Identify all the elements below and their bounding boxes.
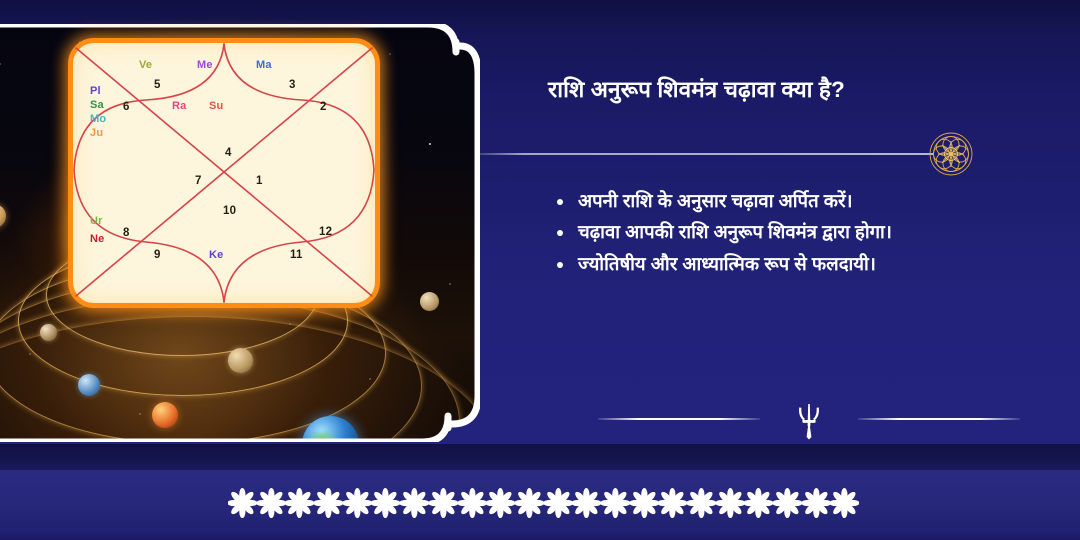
eight-petal-flower-icon <box>802 486 831 520</box>
kundali-house-number: 1 <box>256 176 263 188</box>
kundali-lines <box>68 38 380 308</box>
eight-petal-flower-icon <box>285 486 314 520</box>
eight-petal-flower-icon <box>515 486 544 520</box>
bullet-dot-icon <box>557 230 563 236</box>
kundali-house-number: 11 <box>290 250 303 262</box>
eight-petal-flower-icon <box>687 486 716 520</box>
kundali-house-number: 6 <box>123 102 130 114</box>
trishul-icon <box>786 396 832 442</box>
kundali-planet-mo: Mo <box>90 114 106 125</box>
kundali-planet-sa: Sa <box>90 100 104 111</box>
eight-petal-flower-icon <box>486 486 515 520</box>
eight-petal-flower-icon <box>544 486 573 520</box>
kundali-house-number: 9 <box>154 250 161 262</box>
bullet-text: अपनी राशि के अनुसार चढ़ावा अर्पित करें। <box>578 190 853 211</box>
neptune-planet <box>78 374 100 396</box>
kundali-planet-ke: Ke <box>209 250 223 261</box>
kundali-planet-ve: Ve <box>139 60 152 71</box>
eight-petal-flower-icon <box>744 486 773 520</box>
eight-petal-flower-icon <box>658 486 687 520</box>
kundali-house-number: 7 <box>195 176 202 188</box>
kundali-planet-ne: Ne <box>90 234 104 245</box>
kundali-planet-pl: Pl <box>90 86 101 97</box>
kundali-house-number: 4 <box>225 148 232 160</box>
page-title: राशि अनुरूप शिवमंत्र चढ़ावा क्या है? <box>548 76 1048 104</box>
bullet-item: चढ़ावा आपकी राशि अनुरूप शिवमंत्र द्वारा … <box>550 219 1060 245</box>
kundali-house-number: 5 <box>154 80 161 92</box>
bullet-item: अपनी राशि के अनुसार चढ़ावा अर्पित करें। <box>550 188 1060 214</box>
content-column: राशि अनुरूप शिवमंत्र चढ़ावा क्या है? <box>540 0 1080 540</box>
kundali-house-number: 8 <box>123 228 130 240</box>
bullet-item: ज्योतिषीय और आध्यात्मिक रूप से फलदायी। <box>550 251 1060 277</box>
mars-planet <box>152 402 178 428</box>
eight-petal-flower-icon <box>830 486 859 520</box>
eight-petal-flower-icon <box>601 486 630 520</box>
divider-line <box>478 153 934 155</box>
kundali-planet-ur: Ur <box>90 216 103 227</box>
bullet-dot-icon <box>557 262 563 268</box>
mercury-planet <box>40 324 57 341</box>
mandala-rosette-icon <box>928 131 974 177</box>
kundali-planet-me: Me <box>197 60 213 71</box>
uranus-planet <box>420 292 439 311</box>
kundali-house-number: 3 <box>289 80 296 92</box>
eight-petal-flower-icon <box>572 486 601 520</box>
kundali-chart: 123456789101112 VeMeMaPlSaMoJuRaSuUrNeKe <box>68 38 380 308</box>
eight-petal-flower-icon <box>458 486 487 520</box>
eight-petal-flower-icon <box>773 486 802 520</box>
kundali-house-number: 12 <box>319 227 332 239</box>
bullet-text: ज्योतिषीय और आध्यात्मिक रूप से फलदायी। <box>578 253 876 274</box>
poster-canvas: 123456789101112 VeMeMaPlSaMoJuRaSuUrNeKe… <box>0 0 1080 540</box>
kundali-house-number: 2 <box>320 102 327 114</box>
eight-petal-flower-icon <box>257 486 286 520</box>
saturn-planet <box>228 348 253 373</box>
bullet-text: चढ़ावा आपकी राशि अनुरूप शिवमंत्र द्वारा … <box>578 221 892 242</box>
eight-petal-flower-icon <box>716 486 745 520</box>
venus-planet <box>0 204 6 228</box>
eight-petal-flower-icon <box>343 486 372 520</box>
kundali-planet-ju: Ju <box>90 128 103 139</box>
bullet-dot-icon <box>557 199 563 205</box>
image-panel: 123456789101112 VeMeMaPlSaMoJuRaSuUrNeKe <box>0 24 480 442</box>
eight-petal-flower-icon <box>429 486 458 520</box>
eight-petal-flower-icon <box>630 486 659 520</box>
eight-petal-flower-icon <box>314 486 343 520</box>
kundali-planet-ma: Ma <box>256 60 272 71</box>
eight-petal-flower-icon <box>400 486 429 520</box>
eight-petal-flower-icon <box>371 486 400 520</box>
kundali-house-number: 10 <box>223 206 236 218</box>
bullet-list: अपनी राशि के अनुसार चढ़ावा अर्पित करें।च… <box>550 188 1060 282</box>
title-divider <box>478 148 1038 160</box>
footer-divider <box>590 398 1030 440</box>
footer-divider-line-right <box>858 418 1020 420</box>
footer-divider-line-left <box>598 418 760 420</box>
kundali-planet-su: Su <box>209 101 223 112</box>
kundali-planet-ra: Ra <box>172 101 186 112</box>
flower-divider-strip <box>228 482 860 524</box>
eight-petal-flower-icon <box>228 486 257 520</box>
